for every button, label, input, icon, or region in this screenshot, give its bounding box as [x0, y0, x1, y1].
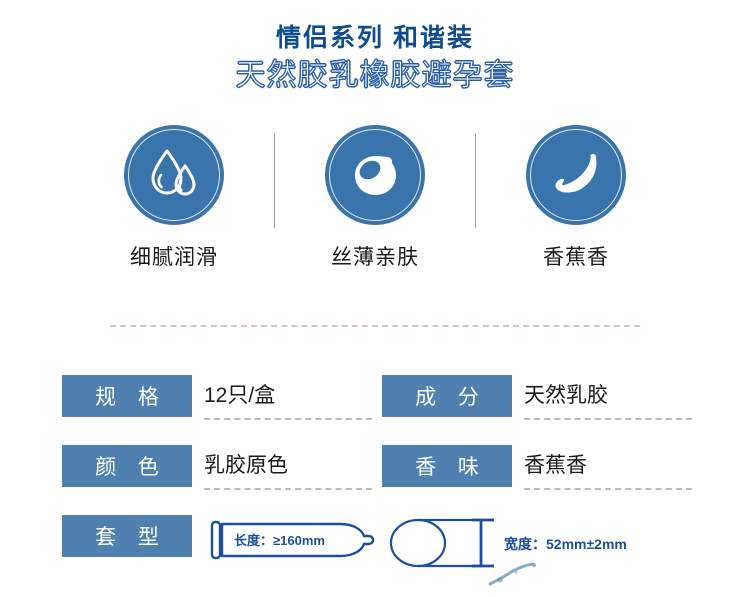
spec-cell: 规 格 12只/盒	[62, 375, 382, 417]
spec-value: 乳胶原色	[204, 445, 382, 487]
spec-key-label: 颜 色	[62, 445, 192, 487]
spec-key-label: 香 味	[382, 445, 512, 487]
feature-item-thin: 丝薄亲肤	[275, 125, 475, 271]
spec-key-label: 规 格	[62, 375, 192, 417]
spec-cell: 颜 色 乳胶原色	[62, 445, 382, 487]
spec-row-dimensions: 套 型 长度：≥160mm 宽度：52mm±2	[62, 515, 702, 571]
spec-cell: 成 分 天然乳胶	[382, 375, 702, 417]
spec-value: 12只/盒	[204, 375, 382, 417]
spec-value-text: 香蕉香	[524, 453, 702, 479]
length-label-text: 长度：≥160mm	[234, 533, 325, 548]
spec-cell: 套 型 长度：≥160mm	[62, 515, 382, 565]
spec-cell: 香 味 香蕉香	[382, 445, 702, 487]
spec-key-label: 成 分	[382, 375, 512, 417]
title-line-primary: 情侣系列 和谐装	[0, 22, 750, 54]
feature-item-banana: 香蕉香	[476, 125, 676, 271]
section-divider	[110, 325, 640, 327]
length-diagram: 长度：≥160mm	[204, 515, 382, 565]
spec-row: 规 格 12只/盒 成 分 天然乳胶	[62, 375, 702, 419]
spec-value-text: 乳胶原色	[204, 453, 382, 479]
feature-icon-badge	[526, 125, 626, 225]
title-line-secondary: 天然胶乳橡胶避孕套	[0, 56, 750, 96]
spec-value-text: 天然乳胶	[524, 383, 702, 409]
feature-icon-badge	[325, 125, 425, 225]
spec-value: 香蕉香	[524, 445, 702, 487]
spec-row: 颜 色 乳胶原色 香 味 香蕉香	[62, 445, 702, 489]
feature-label: 丝薄亲肤	[331, 241, 419, 271]
watermark-brush-mark	[486, 562, 546, 588]
product-detail-page: 情侣系列 和谐装 天然胶乳橡胶避孕套 细腻润滑	[0, 0, 750, 596]
feature-label: 香蕉香	[543, 241, 609, 271]
feature-label: 细腻润滑	[130, 241, 218, 271]
banana-icon	[544, 141, 608, 210]
feature-item-lubrication: 细腻润滑	[74, 125, 274, 271]
thin-membrane-icon	[345, 143, 405, 208]
water-droplets-icon	[143, 142, 205, 209]
spec-key-label: 套 型	[62, 515, 192, 557]
feature-icon-badge	[124, 125, 224, 225]
feature-list: 细腻润滑 丝薄亲肤	[0, 125, 750, 295]
spec-table: 规 格 12只/盒 成 分 天然乳胶 颜 色 乳胶原色 香 味	[62, 375, 702, 597]
spec-value-text: 12只/盒	[204, 383, 382, 409]
condom-length-outline-icon: 长度：≥160mm	[204, 515, 379, 565]
spec-value: 天然乳胶	[524, 375, 702, 417]
page-title: 情侣系列 和谐装 天然胶乳橡胶避孕套	[0, 22, 750, 96]
width-label-text: 宽度：52mm±2mm	[504, 536, 627, 552]
